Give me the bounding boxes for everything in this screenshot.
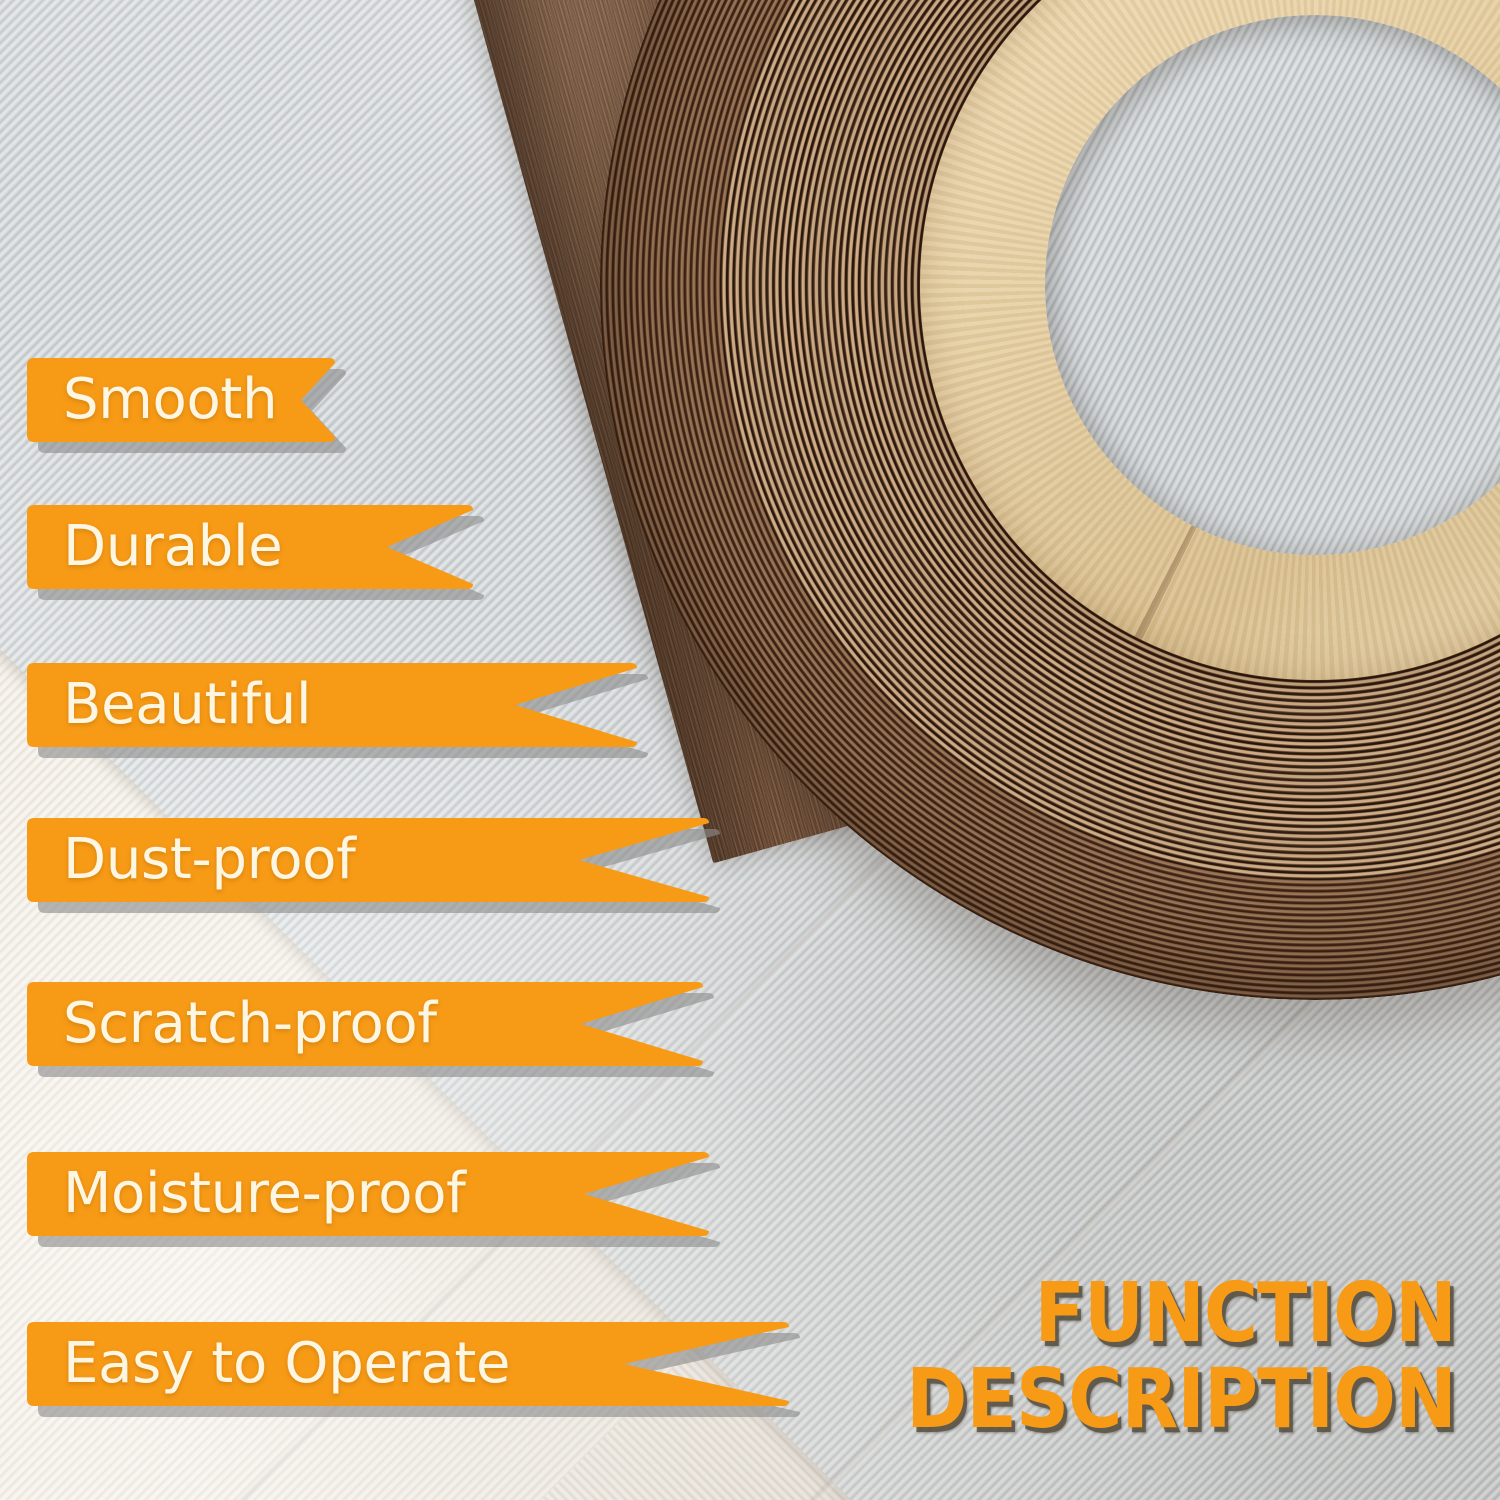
feature-ribbon-label: Smooth: [63, 358, 277, 442]
feature-ribbon-label: Beautiful: [63, 663, 311, 747]
feature-ribbon-label: Durable: [63, 505, 282, 589]
product-feature-graphic: SmoothDurableBeautifulDust-proofScratch-…: [0, 0, 1500, 1500]
feature-ribbon: Scratch-proof: [27, 982, 703, 1066]
feature-ribbon: Moisture-proof: [27, 1152, 709, 1236]
feature-ribbon: Easy to Operate: [27, 1322, 789, 1406]
feature-ribbon-label: Moisture-proof: [63, 1152, 466, 1236]
feature-ribbon: Beautiful: [27, 663, 637, 747]
heading-line-2: DESCRIPTION: [906, 1357, 1456, 1442]
heading-line-1: FUNCTION: [906, 1271, 1456, 1356]
feature-ribbon: Smooth: [27, 358, 335, 442]
function-description-heading: FUNCTION DESCRIPTION: [845, 1271, 1456, 1442]
feature-ribbon-label: Easy to Operate: [63, 1322, 510, 1406]
feature-ribbon-label: Dust-proof: [63, 818, 356, 902]
feature-ribbon-label: Scratch-proof: [63, 982, 437, 1066]
feature-ribbon: Dust-proof: [27, 818, 709, 902]
feature-ribbon: Durable: [27, 505, 473, 589]
